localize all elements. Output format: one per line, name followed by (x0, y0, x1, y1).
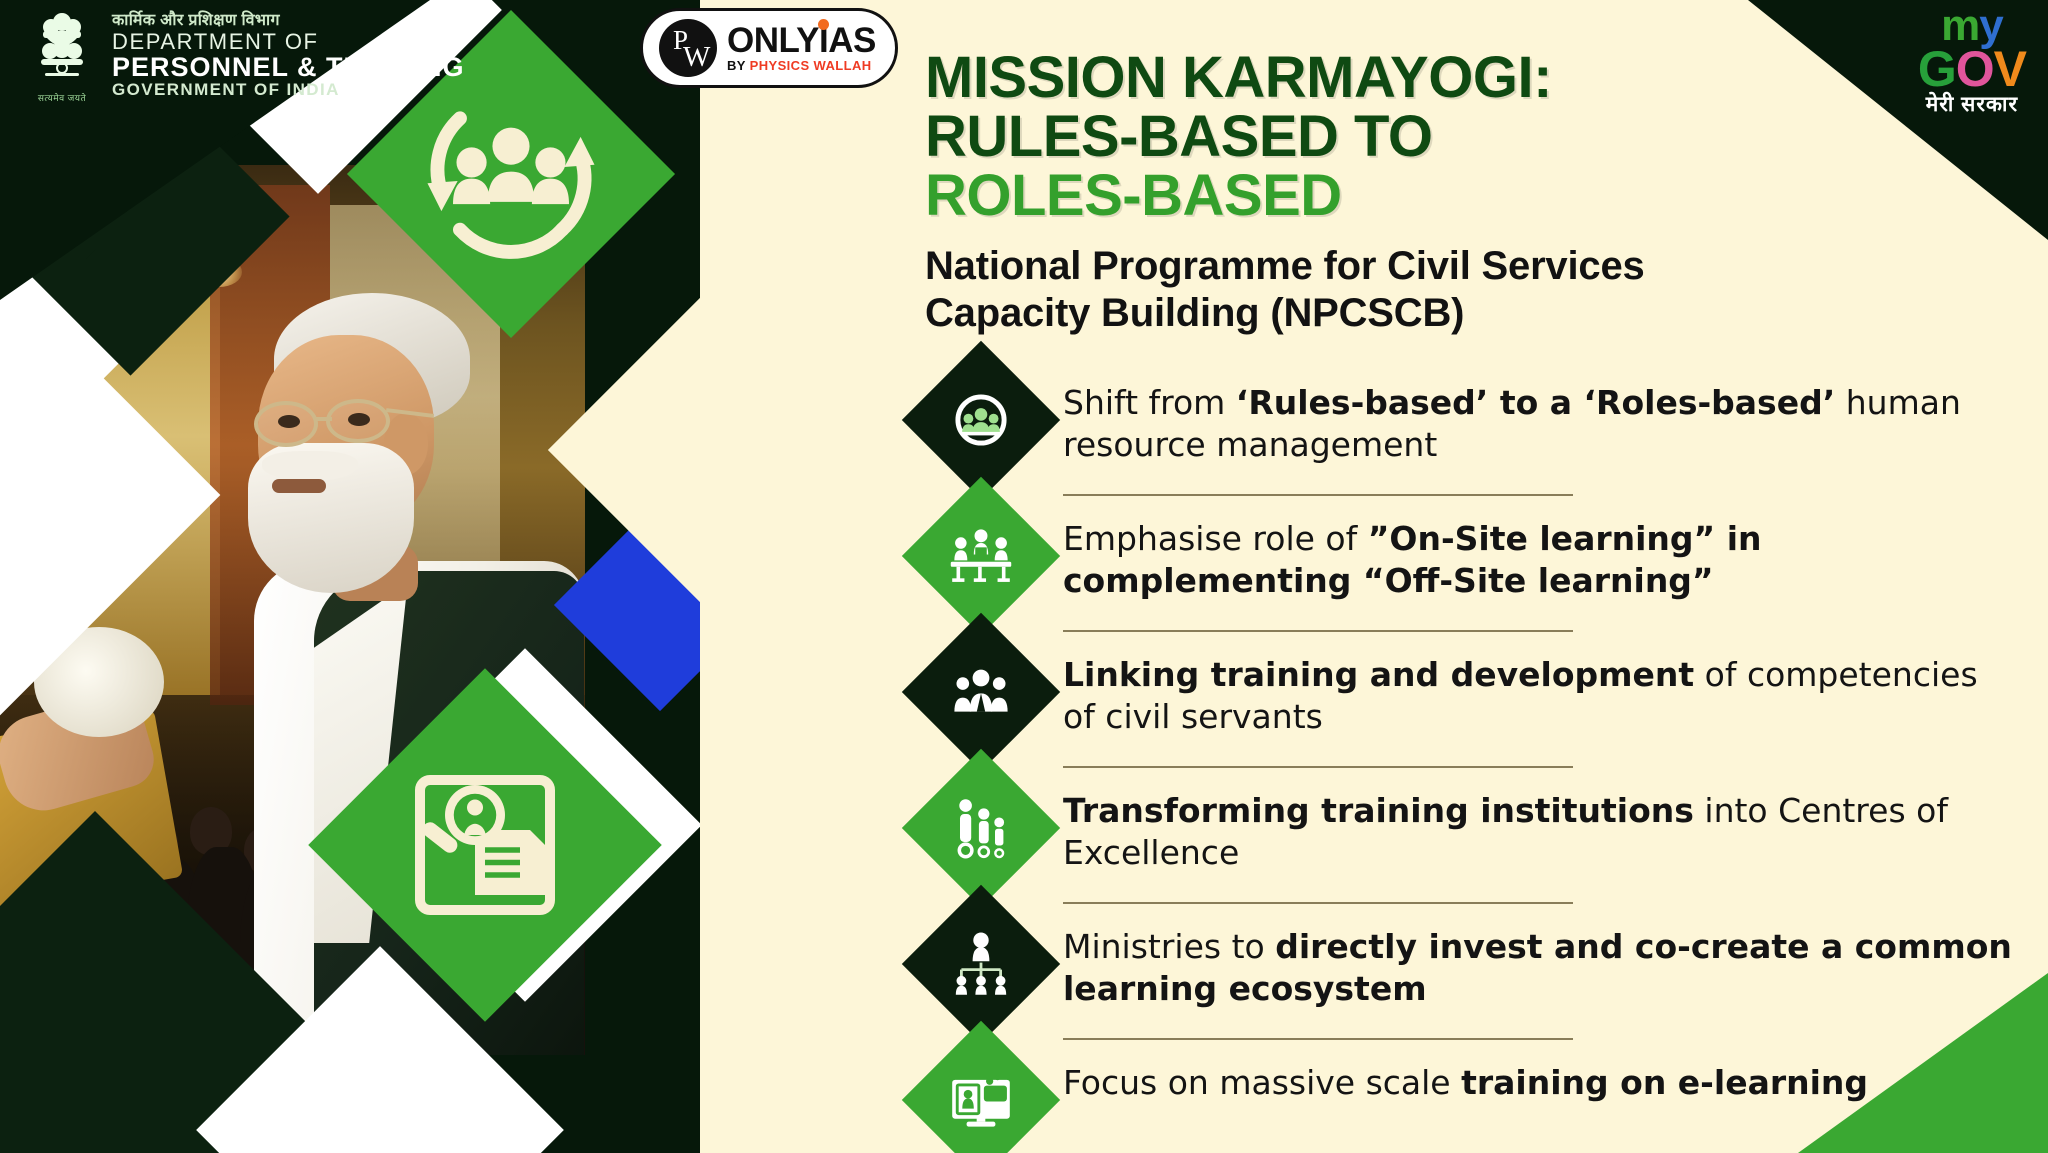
bullet-text: Shift from ‘Rules-based’ to a ‘Roles-bas… (1063, 370, 2015, 465)
bullet-separator (1063, 766, 1573, 768)
dopt-hindi-label: कार्मिक और प्रशिक्षण विभाग (112, 13, 465, 30)
emblem-caption: सत्यमेव जयते (38, 91, 86, 104)
title-line-2: RULES-BASED TO (925, 107, 2015, 166)
dopt-line-2: PERSONNEL & TRAINING (112, 53, 465, 82)
bullet-text: Focus on massive scale training on e-lea… (1063, 1050, 2015, 1104)
infographic-poster: सत्यमेव जयते कार्मिक और प्रशिक्षण विभाग … (0, 0, 2048, 1153)
title-line-3: ROLES-BASED (925, 166, 2015, 225)
e-learning-monitor-icon (902, 1021, 1060, 1153)
mygov-letter-g: G (1918, 41, 1956, 97)
pw-letter-w: W (683, 41, 710, 74)
physics-wallah-mark-icon: P W (659, 19, 717, 77)
subtitle: National Programme for Civil Services Ca… (925, 243, 2015, 336)
meeting-table-icon (902, 477, 1060, 635)
bullet-text: Linking training and development of comp… (1063, 642, 2015, 737)
org-hierarchy-icon (902, 885, 1060, 1043)
onlyias-tagline: BY PHYSICS WALLAH (727, 58, 876, 74)
bullet-list: Shift from ‘Rules-based’ to a ‘Roles-bas… (925, 370, 2015, 1153)
onlyias-logo: P W ONLYIAS BY PHYSICS WALLAH (640, 8, 898, 88)
main-content: MISSION KARMAYOGI: RULES-BASED TO ROLES-… (925, 48, 2015, 1153)
dopt-logo: सत्यमेव जयते कार्मिक और प्रशिक्षण विभाग … (26, 8, 465, 104)
bullet-item: Emphasise role of ”On-Site learning” in … (925, 506, 2015, 618)
onlyias-brand: PHYSICS WALLAH (750, 58, 872, 73)
bullet-text: Ministries to directly invest and co-cre… (1063, 914, 2015, 1009)
bullet-separator (1063, 902, 1573, 904)
bullet-item: Linking training and development of comp… (925, 642, 2015, 754)
mygov-my-wordmark: my (1918, 6, 2026, 46)
bullet-item: Shift from ‘Rules-based’ to a ‘Roles-bas… (925, 370, 2015, 482)
bullet-text: Emphasise role of ”On-Site learning” in … (1063, 506, 2015, 601)
national-emblem-icon: सत्यमेव जयते (26, 8, 98, 104)
group-training-icon (902, 613, 1060, 771)
growth-people-icon (902, 749, 1060, 907)
mygov-letter-o: O (1956, 41, 1994, 97)
title-line-1: MISSION KARMAYOGI: (925, 48, 2015, 107)
dopt-line-1: DEPARTMENT OF (112, 30, 465, 53)
bullet-separator (1063, 1038, 1573, 1040)
mygov-letter-v: V (1994, 41, 2026, 97)
mygov-logo: my GOV मेरी सरकार (1918, 6, 2026, 115)
bullet-separator (1063, 630, 1573, 632)
document-search-icon (308, 668, 662, 1022)
subtitle-line-2: Capacity Building (NPCSCB) (925, 290, 2015, 336)
onlyias-dot-icon (818, 19, 829, 30)
mygov-gov-wordmark: GOV (1918, 46, 2026, 92)
mygov-hindi-label: मेरी सरकार (1918, 95, 2026, 114)
bullet-item: Focus on massive scale training on e-lea… (925, 1050, 2015, 1153)
bullet-separator (1063, 494, 1573, 496)
subtitle-line-1: National Programme for Civil Services (925, 243, 2015, 289)
bullet-item: Transforming training institutions into … (925, 778, 2015, 890)
people-in-circle-icon (902, 341, 1060, 499)
onlyias-name: ONLYIAS (727, 21, 876, 60)
onlyias-by-label: BY (727, 58, 746, 73)
onlyias-wordmark: ONLYIAS (727, 23, 876, 58)
bullet-item: Ministries to directly invest and co-cre… (925, 914, 2015, 1026)
bullet-text: Transforming training institutions into … (1063, 778, 2015, 873)
dopt-line-3: GOVERNMENT OF INDIA (112, 81, 465, 99)
